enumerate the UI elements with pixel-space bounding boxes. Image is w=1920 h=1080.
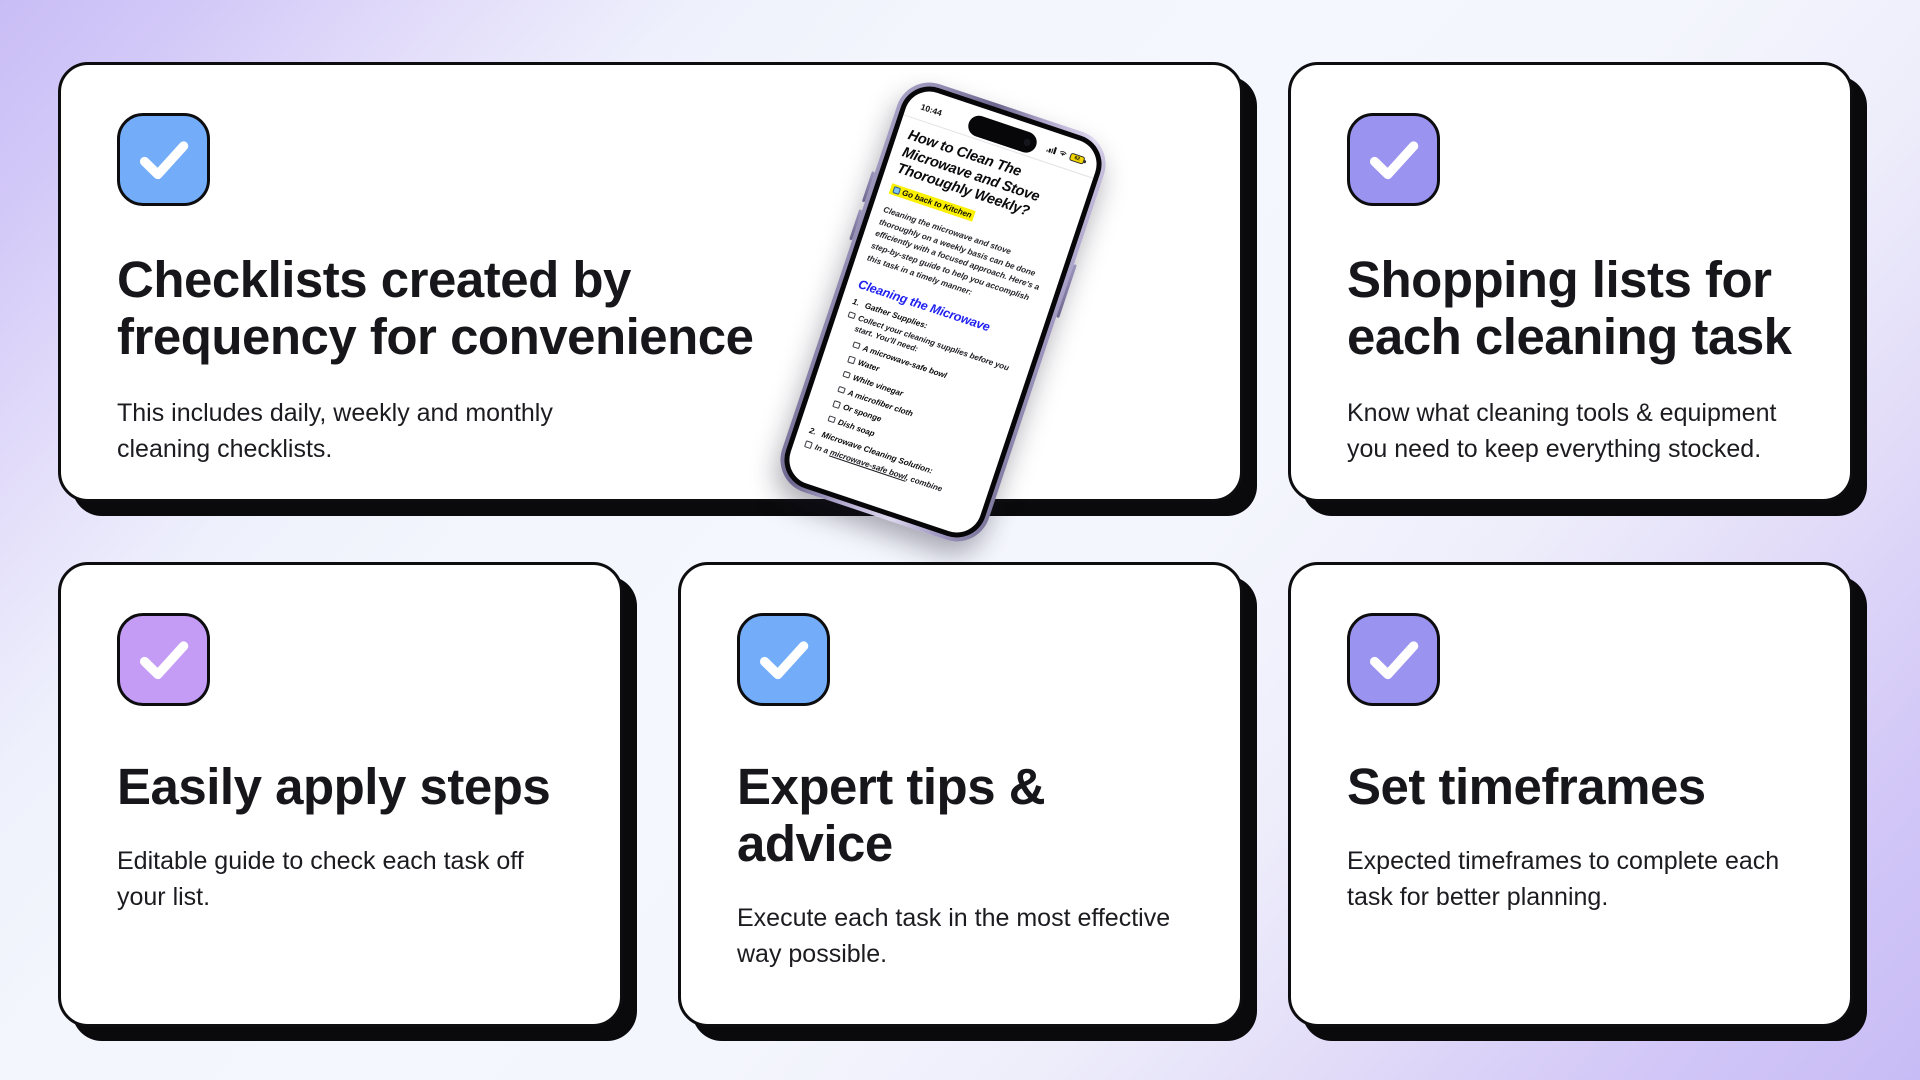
check-icon: [1347, 613, 1440, 706]
check-icon: [117, 113, 210, 206]
checklist-item[interactable]: Or sponge: [831, 398, 990, 461]
checklist-item-label: In a microwave-safe bowl, combine: [813, 442, 944, 495]
checkbox-icon[interactable]: [847, 311, 855, 319]
battery-icon: 62: [1069, 152, 1086, 164]
phone-frame: 10:44 62: [771, 74, 1114, 551]
checklist-item-label: Dish soap: [836, 416, 876, 439]
phone-volume-up-button: [862, 171, 875, 202]
checklist-item-label: White vinegar: [851, 372, 904, 400]
checklist-item-label: A microfiber cloth: [846, 387, 914, 420]
checkbox-icon[interactable]: [847, 356, 855, 364]
checklist-item[interactable]: Water: [846, 354, 1005, 417]
status-divider: [903, 114, 1093, 178]
article-section-heading: Cleaning the Microwave: [857, 277, 1030, 347]
status-time: 10:44: [920, 101, 944, 117]
step-1-title: Gather Supplies:: [864, 301, 929, 330]
back-arrow-icon: [892, 186, 901, 195]
feature-card-expert-tips[interactable]: Expert tips & advice Execute each task i…: [678, 562, 1243, 1027]
card-title: Easily apply steps: [117, 758, 564, 815]
go-back-label: Go back to Kitchen: [901, 188, 973, 220]
checkbox-icon[interactable]: [837, 385, 845, 393]
checklist-item[interactable]: Collect your cleaning supplies before yo…: [843, 309, 1019, 387]
article-step-2: 2.Microwave Cleaning Solution:: [808, 426, 980, 491]
step-2-number: 2.: [808, 426, 823, 439]
feature-card-timeframes[interactable]: Set timeframes Expected timeframes to co…: [1288, 562, 1853, 1027]
phone-mockup: 10:44 62: [796, 71, 1126, 501]
card-title: Checklists created by frequency for conv…: [117, 251, 777, 365]
dynamic-island: [965, 113, 1039, 155]
article-step-1: 1.Gather Supplies:: [851, 297, 1023, 362]
checkbox-icon[interactable]: [842, 371, 850, 379]
card-description: Expected timeframes to complete each tas…: [1347, 843, 1794, 916]
card-title: Set timeframes: [1347, 758, 1794, 815]
article-intro: Cleaning the microwave and stove thoroug…: [865, 204, 1054, 321]
article-title: How to Clean The Microwave and Stove Tho…: [894, 127, 1080, 234]
phone-bezel: 10:44 62: [776, 79, 1109, 546]
checkbox-icon[interactable]: [804, 441, 812, 449]
feature-card-apply-steps[interactable]: Easily apply steps Editable guide to che…: [58, 562, 623, 1027]
card-description: Know what cleaning tools & equipment you…: [1347, 395, 1794, 468]
card-description: Editable guide to check each task off yo…: [117, 843, 564, 916]
wifi-icon: [1058, 149, 1069, 158]
checklist-item-label: Or sponge: [841, 402, 883, 426]
phone-power-button: [1056, 264, 1077, 318]
check-icon: [1347, 113, 1440, 206]
step-1-number: 1.: [851, 297, 866, 310]
check-icon: [117, 613, 210, 706]
checklist-item-label: A microwave-safe bowl: [861, 343, 948, 382]
checklist-item[interactable]: A microwave-safe bowl: [851, 339, 1010, 402]
phone-screen: 10:44 62: [783, 85, 1103, 539]
check-icon: [737, 613, 830, 706]
checklist-item[interactable]: Dish soap: [826, 413, 985, 476]
feature-card-shopping[interactable]: Shopping lists for each cleaning task Kn…: [1288, 62, 1853, 502]
checklist-item-label: Water: [856, 357, 881, 375]
checkbox-icon[interactable]: [827, 415, 835, 423]
checklist-item[interactable]: A microfiber cloth: [836, 384, 995, 447]
checkbox-icon[interactable]: [852, 341, 860, 349]
page-root: Checklists created by frequency for conv…: [0, 0, 1920, 1080]
checklist-item[interactable]: White vinegar: [841, 369, 1000, 432]
checkbox-icon[interactable]: [832, 400, 840, 408]
go-back-link[interactable]: Go back to Kitchen: [889, 183, 976, 221]
cellular-signal-icon: [1046, 145, 1057, 155]
phone-status-bar: 10:44 62: [915, 95, 1090, 171]
card-description: Execute each task in the most effective …: [737, 900, 1184, 973]
checklist-item[interactable]: In a microwave-safe bowl, combine: [803, 439, 975, 506]
step-2-title: Microwave Cleaning Solution:: [820, 430, 933, 475]
checklist-item-label: Collect your cleaning supplies before yo…: [853, 312, 1019, 387]
feature-card-checklists[interactable]: Checklists created by frequency for conv…: [58, 62, 1243, 502]
card-title: Shopping lists for each cleaning task: [1347, 251, 1794, 365]
phone-volume-down-button: [849, 209, 862, 240]
card-title: Expert tips & advice: [737, 758, 1184, 872]
card-description: This includes daily, weekly and monthly …: [117, 395, 587, 468]
